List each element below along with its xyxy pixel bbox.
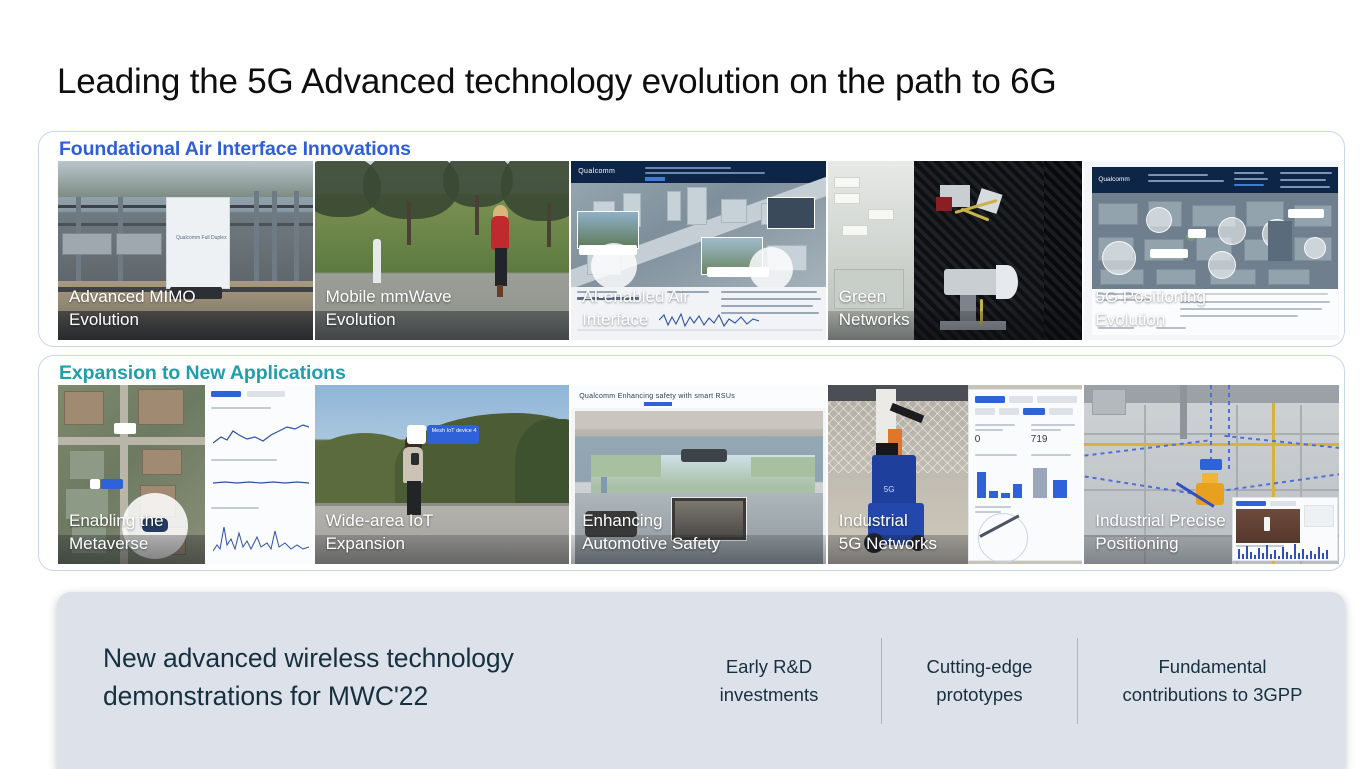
card-wide-area-iot-expansion[interactable]: Mesh IoT device 4 Wide-area IoT Expansio… xyxy=(315,385,570,564)
card-overlay-text: Qualcomm xyxy=(1098,176,1129,183)
card-label: 5G Positioning Evolution xyxy=(1095,286,1206,331)
card-label: Green Networks xyxy=(839,286,910,331)
card-label: Wide-area IoT Expansion xyxy=(326,510,434,555)
card-label: AI-enabled Air Interface xyxy=(582,286,689,331)
metric-average-packet-count: 719 xyxy=(1031,434,1048,445)
section-foundational-air-interface: Foundational Air Interface Innovations xyxy=(38,131,1345,347)
card-overlay-text: Mesh IoT device 4 xyxy=(432,428,477,435)
card-label: Industrial 5G Networks xyxy=(839,510,937,555)
pillar-early-rd-investments: Early R&D investments xyxy=(657,638,881,724)
pillar-fundamental-contributions-3gpp: Fundamental contributions to 3GPP xyxy=(1077,638,1347,724)
sparkline-chart-2 xyxy=(213,467,309,499)
bottom-banner: New advanced wireless technology demonst… xyxy=(57,592,1345,769)
card-label: Advanced MIMO Evolution xyxy=(69,286,196,331)
card-label: Industrial Precise Positioning xyxy=(1095,510,1225,555)
card-mobile-mmwave-evolution[interactable]: Mobile mmWave Evolution xyxy=(315,161,570,340)
card-5g-positioning-evolution[interactable]: Qualcomm xyxy=(1084,161,1339,340)
section-title-foundational: Foundational Air Interface Innovations xyxy=(59,138,411,161)
card-label: Enabling the Metaverse xyxy=(69,510,164,555)
sparkline-chart-1 xyxy=(213,415,309,451)
card-industrial-precise-positioning[interactable]: Industrial Precise Positioning xyxy=(1084,385,1339,564)
banner-pillars: Early R&D investments Cutting-edge proto… xyxy=(657,638,1347,724)
card-overlay-text: Qualcomm Full Duplex xyxy=(176,235,227,241)
metric-total-packet-errors: 0 xyxy=(975,434,981,445)
card-overlay-text: Qualcomm xyxy=(578,168,615,175)
card-row-foundational: Qualcomm Full Duplex Advanced MIMO Evolu… xyxy=(58,161,1339,340)
card-label: Mobile mmWave Evolution xyxy=(326,286,452,331)
card-ai-enabled-air-interface[interactable]: Qualcomm xyxy=(571,161,826,340)
card-industrial-5g-networks[interactable]: 5G 0 xyxy=(828,385,1083,564)
section-expansion-new-applications: Expansion to New Applications xyxy=(38,355,1345,571)
page-title: Leading the 5G Advanced technology evolu… xyxy=(57,62,1056,102)
card-row-expansion: Enabling the Metaverse Mesh IoT device xyxy=(58,385,1339,564)
sparkline-chart-3 xyxy=(213,515,309,555)
card-overlay-text: 5G xyxy=(884,485,895,494)
card-overlay-text: Qualcomm Enhancing safety with smart RSU… xyxy=(579,393,735,400)
card-label: Enhancing Automotive Safety xyxy=(582,510,720,555)
slide-canvas: Leading the 5G Advanced technology evolu… xyxy=(0,0,1370,769)
pillar-cutting-edge-prototypes: Cutting-edge prototypes xyxy=(881,638,1077,724)
card-green-networks[interactable]: Green Networks xyxy=(828,161,1083,340)
card-enabling-the-metaverse[interactable]: Enabling the Metaverse xyxy=(58,385,313,564)
section-title-expansion: Expansion to New Applications xyxy=(59,362,346,385)
card-advanced-mimo-evolution[interactable]: Qualcomm Full Duplex Advanced MIMO Evolu… xyxy=(58,161,313,340)
card-enhancing-automotive-safety[interactable]: Qualcomm Enhancing safety with smart RSU… xyxy=(571,385,826,564)
banner-headline: New advanced wireless technology demonst… xyxy=(103,639,514,716)
